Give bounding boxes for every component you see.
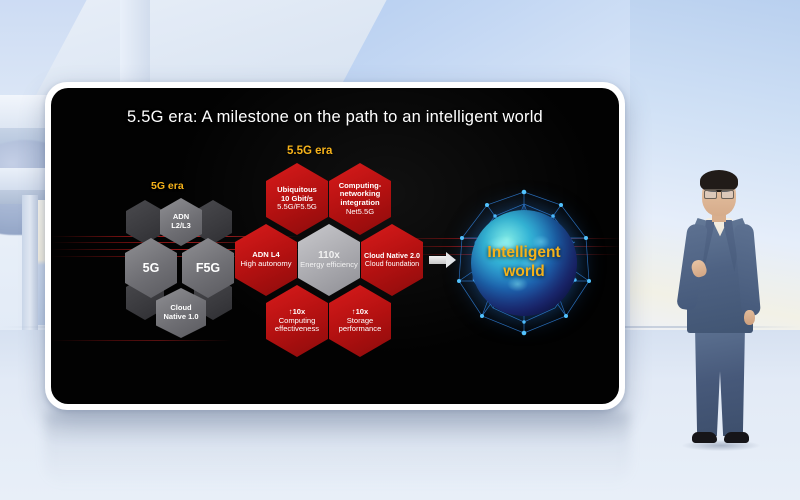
presenter-shoe-right [724,432,749,443]
slide-title: 5.5G era: A milestone on the path to an … [51,108,619,127]
label-5g-era: 5G era [151,180,184,192]
globe-label-line2: world [449,262,599,281]
screen-floor-reflection [45,412,630,487]
hex-energy-line2: Energy efficiency [300,261,358,270]
hex-cloud-native-10-line2: Native 1.0 [163,313,198,322]
globe-label-line1: Intelligent [449,243,599,262]
hex-storage-line3: performance [339,325,382,334]
room-pillar [22,195,38,335]
hex-computing-networking[interactable]: Computing- networking integration Net5.5… [329,163,391,235]
intelligent-world-globe: Intelligent world [449,188,599,338]
hex-adn-l2l3-line2: L2/L3 [171,222,191,231]
hex-adn-l2l3[interactable]: ADN L2/L3 [160,198,202,246]
hex-decor-left-top [126,200,164,244]
presenter-shoe-left [692,432,717,443]
hex-storage-performance[interactable]: ↑10x Storage performance [329,285,391,357]
slide-screen: 5.5G era: A milestone on the path to an … [51,88,619,404]
hex-computing-effectiveness[interactable]: ↑10x Computing effectiveness [266,285,328,357]
hex-ubiquitous-10gbits[interactable]: Ubiquitous 10 Gbit/s 5.5G/F5.5G [266,163,328,235]
label-55g-era: 5.5G era [287,145,332,157]
hex-compeff-line3: effectiveness [275,325,319,334]
globe-label: Intelligent world [449,243,599,282]
hex-ubiquitous-line3: 5.5G/F5.5G [277,203,317,212]
hex-compnet-line4: Net5.5G [346,208,374,217]
presentation-display-panel: 5.5G era: A milestone on the path to an … [45,82,625,410]
hex-energy-efficiency[interactable]: 110x Energy efficiency [298,224,360,296]
presenter-glasses [704,189,734,196]
hex-adn-l4-line2: High autonomy [240,260,291,269]
presenter-trousers [694,328,746,436]
hex-f5g-label: F5G [196,261,220,275]
hex-adn-l4[interactable]: ADN L4 High autonomy [235,224,297,296]
hex-5g-label: 5G [143,261,160,275]
hex-cn20-line2: Cloud foundation [365,260,419,268]
hex-cloud-native-20[interactable]: Cloud Native 2.0 Cloud foundation [361,224,423,296]
presenter-hand-right [744,310,755,325]
arrow-55g-to-world-body [429,256,447,264]
presenter-figure [672,168,768,458]
bg-red-streak-8 [51,340,231,341]
